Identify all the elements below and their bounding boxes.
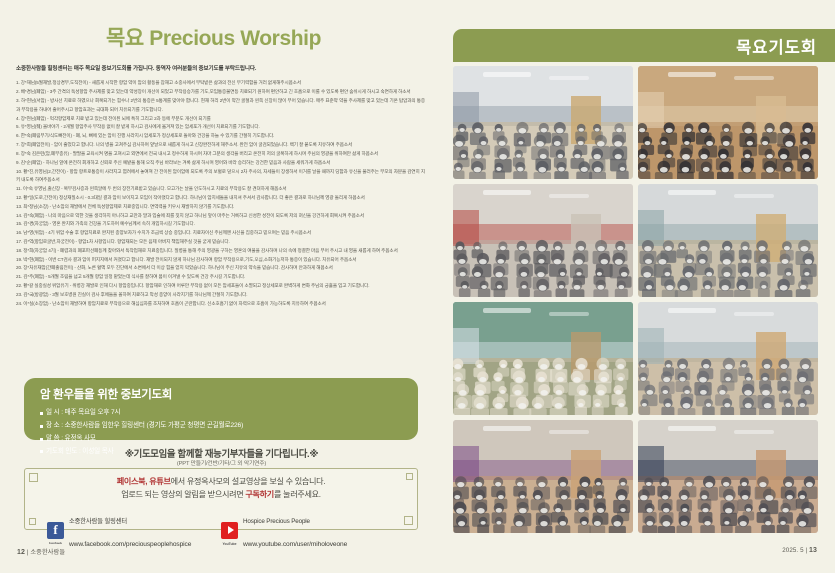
publication-name: 소중한사람들 [30, 549, 65, 556]
info-item: 말 씀 : 유정옥 사모 [40, 433, 162, 446]
youtube-icon-caption: YouTube [221, 542, 238, 546]
prayer-request-item: 6. 한*숙(폐림부기/식도뼈전이) - 폐, 뇌, 뼈에 있는 암이 진행 사… [16, 132, 429, 141]
photo-clapping-members-canvas [453, 420, 633, 533]
prayer-request-item: 18. 정*희(자궁암 4기) - 폐렴과의 폐포파선폐등께 찾아와서 독작업재… [16, 247, 429, 256]
prayer-request-item: 10. 황*진,유영님(2,간전이) - 항암 항트로통증이 사라지고 염려에서… [16, 168, 429, 186]
footer-separator-left: | [27, 549, 29, 556]
prayer-request-item: 19. 박*현(폐암) - 이번 CT검사 결과 암이 퍼지지에서 커졌다고 합… [16, 256, 429, 265]
prayer-request-item: 2. 배*경님(폐암) - 3주 간격의 독성항암 주사제를 맞고 있는데 약성… [16, 88, 429, 97]
prayer-request-item: 13. 최*정님(소장) - 난소암의 재발에서 전체 독성항암제로 치료중입니… [16, 203, 429, 212]
facebook-url[interactable]: www.facebook.com/preciouspeoplehospice [69, 541, 191, 548]
prayer-request-list: 1. 강*재님(5월재발,정상경부,도직전이) - 새롭게 시작한 항암 약이 … [16, 79, 429, 308]
sns-account-row: f facebook 소중한사람들 힐링센터 www.facebook.com/… [25, 507, 417, 553]
facebook-text: 소중한사람들 힐링센터 www.facebook.com/preciouspeo… [69, 507, 191, 553]
youtube-text: Hospice Precious People www.youtube.com/… [243, 507, 347, 553]
youtube-account[interactable]: YouTube Hospice Precious People www.yout… [221, 507, 395, 553]
prayer-request-item: 3. 하*현님(서암) - 방사선 치료로 하였으나 회복되기는 힘수나 2번의… [16, 97, 429, 115]
play-triangle-icon [228, 526, 234, 534]
info-item-text: 장 소 : 소중한사람들 임한우 힐링센터 (경기도 가평군 청평면 곤길월로2… [46, 420, 243, 433]
social-media-box: 페이스북, 유튜브에서 유정옥사모의 설교영상을 보실 수 있습니다. 업로드 … [24, 468, 418, 530]
square-bullet-icon [40, 438, 43, 441]
photo-worship-service-canvas [638, 302, 818, 415]
prayer-request-item: 24. 이*실(소장암) - 난소암이 재발하여 항암치료로 부작용으로 해심심… [16, 300, 429, 309]
youtube-channel-name: Hospice Precious People [243, 518, 310, 525]
sns-headline-1: 페이스북, 유튜브에서 유정옥사모의 설교영상을 보실 수 있습니다. [25, 476, 417, 489]
prayer-request-item: 22. 황*갈 실중실성 위암유기 - 위병강 재발로 인해 다시 항암중입니다… [16, 282, 429, 291]
prayer-request-item: 16. 남*영(위암) - 4기 위암 수술 후 항암치료로 완치된 종양보자가… [16, 229, 429, 238]
right-photo-column: 목요기도회 [449, 0, 835, 573]
sns-headline-2-pre: 업로드 되는 영상의 알림을 받으시려면 [121, 490, 245, 499]
photo-youth-hands-up-canvas [453, 184, 633, 297]
prayer-request-item: 14. 김*숙(폐암) - 나의 마음으로 악한 것을 생각하지 아니하고 교만… [16, 212, 429, 221]
info-item-text: 일 시 : 매주 목요일 오후 7시 [46, 407, 120, 420]
photo-youth-hands-up [453, 184, 633, 297]
intro-text: 소중한사람들 힐링센터는 매주 목요일 중보기도회를 가집니다. 동역자 여러분… [16, 65, 429, 73]
corner-ornament-bottom-left [29, 518, 36, 525]
prayer-request-item: 8. 장*숙 김은련(암,폐부종유) - 팔팔을 교육시켜 명을 고쳐시고 외면… [16, 150, 429, 159]
prayer-request-item: 7. 장*희(폐암전이) - 암이 줄었다고 합니다. 나의 병을 고쳐주심 감… [16, 141, 429, 150]
section-banner: 목요기도회 [453, 29, 835, 62]
sns-platforms-label: 페이스북, 유튜브 [117, 477, 171, 486]
info-box-title: 암 환우들을 위한 중보기도회 [40, 386, 402, 402]
prayer-meeting-info-box: 암 환우들을 위한 중보기도회 일 시 : 매주 목요일 오후 7시장 소 : … [24, 378, 418, 440]
info-item: 일 시 : 매주 목요일 오후 7시 [40, 407, 162, 420]
photo-choir-robes [453, 302, 633, 415]
facebook-icon-caption: facebook [47, 542, 64, 545]
magazine-page: 목요 Precious Worship 소중한사람들 힐링센터는 매주 목요일 … [0, 0, 835, 573]
subscribe-label: 구독하기 [245, 490, 274, 499]
sns-headline-1-rest: 에서 유정옥사모의 설교영상을 보실 수 있습니다. [171, 477, 326, 486]
photo-pastor-laying-hands [638, 420, 818, 533]
photo-gallery-grid [453, 66, 833, 533]
page-title: 목요 Precious Worship [16, 22, 411, 52]
photo-congregation-hands-raised [453, 66, 633, 179]
prayer-request-item: 12. 황*일(도로,간전이) 정상재질소시 - 0.3대일 결과 암이 보이지… [16, 194, 429, 203]
prayer-request-item: 5. 유*영님(췌) 올바야기 - 2개월 항암주사 부작용 없이 잘 받게 하… [16, 123, 429, 132]
facebook-icon[interactable]: f facebook [47, 522, 64, 539]
corner-ornament-top-right [406, 473, 413, 480]
prayer-request-item: 15. 김*경(자궁암) - 영혼 완치와 가족의 건강을 기도하며 예수님께서… [16, 220, 429, 229]
photo-pastor-laying-hands-canvas [638, 420, 818, 533]
page-number-left: 12 [17, 549, 25, 556]
square-bullet-icon [40, 425, 43, 428]
prayer-request-item: 9. 김*순(폐암) - 하나님 앞에 온전히 회개하고 신뢰로 주신 예밭을 … [16, 159, 429, 168]
info-item-text: 말 씀 : 유정옥 사모 [46, 433, 96, 446]
photo-sanctuary-wide [638, 184, 818, 297]
page-number-right: 13 [809, 547, 817, 554]
facebook-page-name: 소중한사람들 힐링센터 [69, 518, 127, 525]
facebook-account[interactable]: f facebook 소중한사람들 힐링센터 www.facebook.com/… [47, 507, 221, 553]
photo-choir-robes-canvas [453, 302, 633, 415]
footer-right: 2025. 5 | 13 [782, 547, 817, 554]
photo-speaker-portrait [638, 66, 818, 179]
photo-sanctuary-wide-canvas [638, 184, 818, 297]
sns-headline-2: 업로드 되는 영상의 알림을 받으시려면 구독하기를 눌러주세요. [25, 489, 417, 502]
banner-title: 목요기도회 [736, 34, 817, 58]
photo-worship-service [638, 302, 818, 415]
square-bullet-icon [40, 412, 43, 415]
youtube-url[interactable]: www.youtube.com/user/miholoveone [243, 541, 347, 548]
issue-date: 2025. 5 [782, 547, 803, 554]
worship-title-row: 목요 Precious Worship [16, 22, 429, 52]
youtube-icon[interactable]: YouTube [221, 522, 238, 539]
photo-congregation-hands-raised-canvas [453, 66, 633, 179]
photo-clapping-members [453, 420, 633, 533]
sns-headline-2-post: 를 눌러주세요. [274, 490, 321, 499]
prayer-request-item: 1. 강*재님(5월재발,정상경부,도직전이) - 새롭게 시작한 항암 약이 … [16, 79, 429, 88]
prayer-request-item: 4. 장*현님(폐암) - 먹각항암제로 치료 받고 있는데 전이된 뇌에 특히… [16, 115, 429, 124]
footer-separator-right: | [805, 547, 807, 554]
footer-left: 12 | 소중한사람들 [17, 547, 65, 556]
prayer-request-item: 20. 장*처유재암(간폐출림전이) - 산화, 노른 혈액 모두 진단에서 소… [16, 264, 429, 273]
prayer-request-item: 23. 김*국(방광암) - 3월 보호병원 진실이 검사 후에들을 올하여 치… [16, 291, 429, 300]
prayer-request-item: 11. 이*숙 유영님,출신장 - 복부검사증과 왼쪽알에 두 번의 장전기료받… [16, 185, 429, 194]
prayer-request-item: 21. 김*주(폐암) - 5개월 조림을 넘고 5개월 항암 일정 맡았는데 … [16, 273, 429, 282]
photo-speaker-portrait-canvas [638, 66, 818, 179]
prayer-request-item: 17. 김*역(항임로굴반,자궁전이) - 항암1차 사항입니다. 항암재되는 … [16, 238, 429, 247]
info-item: 장 소 : 소중한사람들 임한우 힐링센터 (경기도 가평군 청평면 곤길월로2… [40, 420, 290, 433]
volunteer-note-sub: (PPT 만들기/건반/기타/그 외 악기연주) [0, 458, 443, 467]
